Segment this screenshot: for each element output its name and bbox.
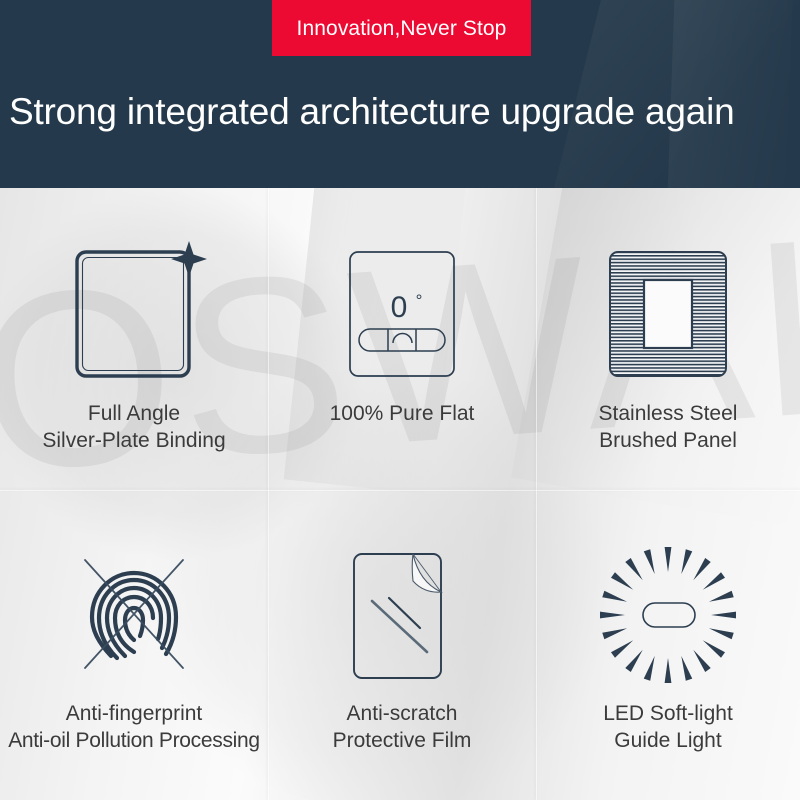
feature-caption-anti-fingerprint: Anti-fingerprint Anti-oil Pollution Proc… xyxy=(8,700,260,755)
anti-fingerprint-icon xyxy=(59,540,209,690)
svg-text:°: ° xyxy=(416,291,423,310)
svg-text:0: 0 xyxy=(391,291,408,324)
caption-line-1: Anti-fingerprint xyxy=(8,700,260,727)
caption-line-1: LED Soft-light xyxy=(603,700,733,727)
feature-cell-pure-flat: 0 ° 100% Pure Flat xyxy=(268,188,536,490)
product-feature-banner: Innovation,Never Stop Strong integrated … xyxy=(0,0,800,800)
caption-line-1: Stainless Steel xyxy=(599,400,738,427)
caption-line-1: Anti-scratch xyxy=(333,700,472,727)
spirit-level-flat-icon: 0 ° xyxy=(327,238,477,388)
feature-caption-led-soft-light: LED Soft-light Guide Light xyxy=(603,700,733,755)
page-title: Strong integrated architecture upgrade a… xyxy=(9,92,735,132)
slogan-badge-label: Innovation,Never Stop xyxy=(297,18,507,39)
feature-cell-anti-scratch: Anti-scratch Protective Film xyxy=(268,490,536,800)
banner-header: Innovation,Never Stop Strong integrated … xyxy=(0,0,800,188)
feature-cell-led-soft-light: LED Soft-light Guide Light xyxy=(536,490,800,800)
caption-line-2: Anti-oil Pollution Processing xyxy=(8,727,260,754)
feature-cell-full-angle: Full Angle Silver-Plate Binding xyxy=(0,188,268,490)
features-section: OSWALL Full Angle Silver-Plate Binding xyxy=(0,188,800,800)
caption-line-1: Full Angle xyxy=(42,400,225,427)
feature-caption-anti-scratch: Anti-scratch Protective Film xyxy=(333,700,472,755)
silver-plate-square-sparkle-icon xyxy=(59,238,209,388)
feature-caption-brushed-panel: Stainless Steel Brushed Panel xyxy=(599,400,738,455)
feature-cell-brushed-panel: Stainless Steel Brushed Panel xyxy=(536,188,800,490)
caption-line-2: Brushed Panel xyxy=(599,427,738,454)
features-grid: Full Angle Silver-Plate Binding 0 ° xyxy=(0,188,800,800)
feature-caption-full-angle: Full Angle Silver-Plate Binding xyxy=(42,400,225,455)
caption-line-2: Guide Light xyxy=(603,727,733,754)
feature-cell-anti-fingerprint: Anti-fingerprint Anti-oil Pollution Proc… xyxy=(0,490,268,800)
feature-caption-pure-flat: 100% Pure Flat xyxy=(330,400,475,427)
caption-line-1: 100% Pure Flat xyxy=(330,400,475,427)
slogan-badge: Innovation,Never Stop xyxy=(272,0,531,56)
led-soft-light-icon xyxy=(593,540,743,690)
brushed-steel-panel-icon xyxy=(593,238,743,388)
caption-line-2: Silver-Plate Binding xyxy=(42,427,225,454)
anti-scratch-film-icon xyxy=(327,540,477,690)
caption-line-2: Protective Film xyxy=(333,727,472,754)
